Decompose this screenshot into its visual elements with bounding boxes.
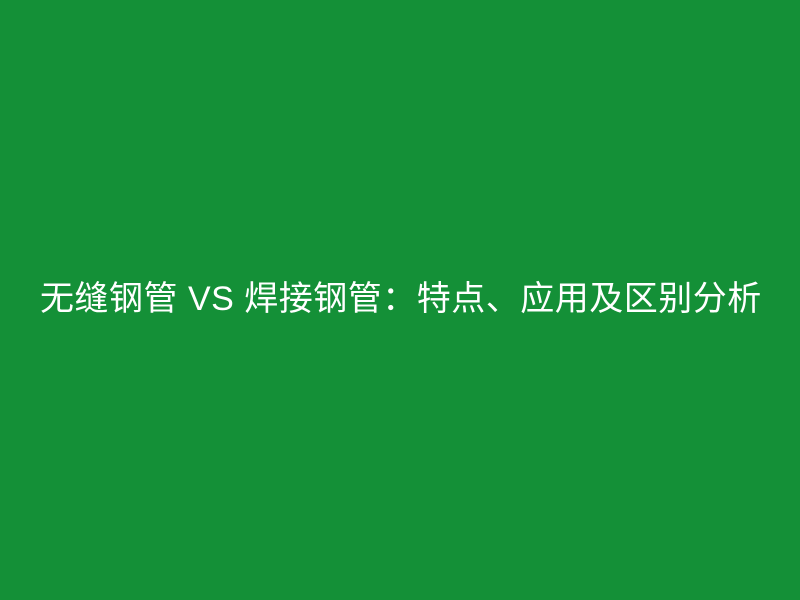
page-title: 无缝钢管 VS 焊接钢管：特点、应用及区别分析 bbox=[40, 277, 760, 323]
title-banner: 无缝钢管 VS 焊接钢管：特点、应用及区别分析 bbox=[0, 0, 800, 600]
banner-content: 无缝钢管 VS 焊接钢管：特点、应用及区别分析 bbox=[0, 277, 800, 323]
